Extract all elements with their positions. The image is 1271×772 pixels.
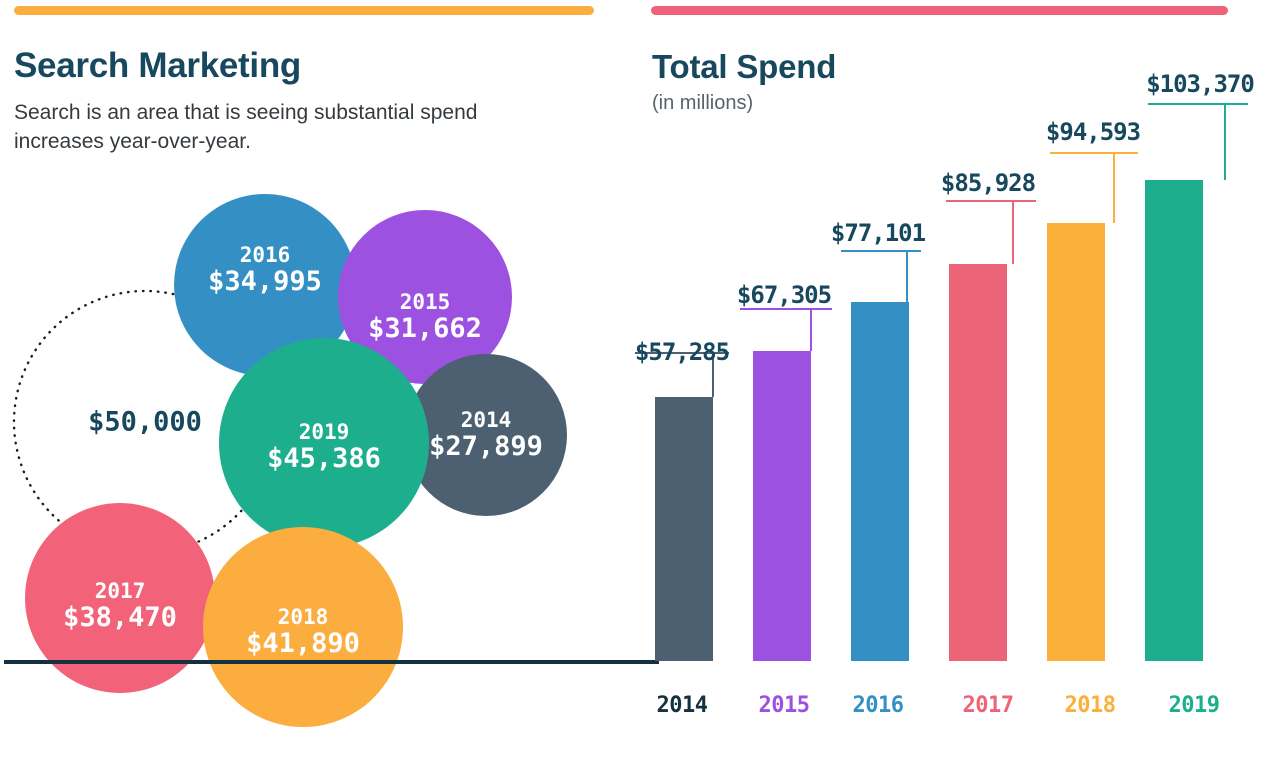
bar-value-label-2016: $77,101 bbox=[831, 219, 925, 247]
leader-line-2018 bbox=[1113, 152, 1115, 223]
x-axis-label-2019: 2019 bbox=[1169, 693, 1220, 718]
x-axis-label-2016: 2016 bbox=[853, 693, 904, 718]
value-underline-2018 bbox=[1050, 152, 1138, 154]
bar-2016[interactable] bbox=[851, 302, 909, 661]
bar-2018[interactable] bbox=[1047, 223, 1105, 661]
infographic-stage: Search Marketing Search is an area that … bbox=[0, 0, 1271, 772]
bar-value-label-2018: $94,593 bbox=[1046, 118, 1140, 146]
x-axis-label-2015: 2015 bbox=[759, 693, 810, 718]
value-underline-2017 bbox=[946, 200, 1036, 202]
leader-line-2019 bbox=[1224, 103, 1226, 180]
bar-value-label-2017: $85,928 bbox=[941, 169, 1035, 197]
bar-2017[interactable] bbox=[949, 264, 1007, 661]
leader-line-2015 bbox=[810, 308, 812, 351]
bar-2015[interactable] bbox=[753, 351, 811, 661]
x-axis-label-2018: 2018 bbox=[1065, 693, 1116, 718]
bar-2014[interactable] bbox=[655, 397, 713, 661]
x-axis-label-2014: 2014 bbox=[657, 693, 708, 718]
value-underline-2016 bbox=[841, 250, 921, 252]
chart-title: Total Spend bbox=[652, 48, 836, 86]
leader-line-2016 bbox=[906, 250, 908, 302]
value-underline-2019 bbox=[1148, 103, 1248, 105]
axis-baseline bbox=[4, 660, 659, 664]
bar-value-label-2015: $67,305 bbox=[737, 281, 831, 309]
bar-value-label-2019: $103,370 bbox=[1146, 70, 1254, 98]
bar-2019[interactable] bbox=[1145, 180, 1203, 661]
x-axis-label-2017: 2017 bbox=[963, 693, 1014, 718]
bar-chart: $57,2852014$67,3052015$77,1012016$85,928… bbox=[0, 0, 671, 772]
leader-line-2017 bbox=[1012, 200, 1014, 264]
bar-value-label-2014: $57,285 bbox=[635, 338, 729, 366]
